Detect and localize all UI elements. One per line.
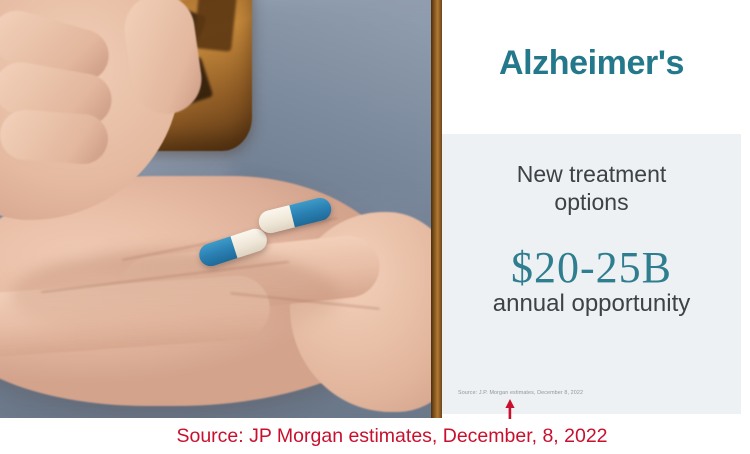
panel-header: Alzheimer's [442, 0, 741, 134]
panel-body: New treatment options $20-25B annual opp… [442, 134, 741, 414]
alzheimers-info-panel: Alzheimer's New treatment options $20-25… [442, 0, 741, 414]
panel-divider [431, 0, 442, 418]
panel-subheading: New treatment options [442, 160, 741, 216]
holding-hand-finger [0, 108, 110, 165]
pill-bottle-photo [0, 0, 431, 418]
palm-shadow [10, 250, 340, 340]
screenshot-root: Alzheimer's New treatment options $20-25… [0, 0, 750, 454]
bottle-contents [193, 0, 237, 52]
panel-title: Alzheimer's [442, 44, 741, 83]
panel-source-note: Source: J.P. Morgan estimates, December … [458, 389, 583, 397]
opportunity-figure: $20-25B [442, 244, 741, 292]
opportunity-figure-caption: annual opportunity [442, 290, 741, 318]
source-annotation-caption: Source: JP Morgan estimates, December, 8… [0, 419, 750, 454]
photo-background-shadow [230, 0, 431, 200]
